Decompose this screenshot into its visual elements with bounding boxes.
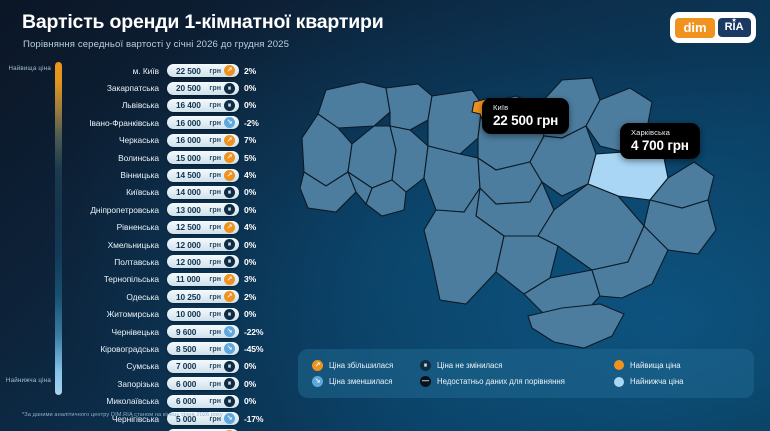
table-row[interactable]: м. Київ22 500грн↗2% xyxy=(70,62,285,79)
percent-change: 0% xyxy=(244,309,256,319)
region-name: Київська xyxy=(70,187,167,197)
trend-up-icon: ↗ xyxy=(312,360,323,371)
price-value: 8 500 xyxy=(176,344,206,354)
page-title: Вартість оренди 1-кімнатної квартири xyxy=(22,11,384,34)
percent-change: 7% xyxy=(244,135,256,145)
currency-label: грн xyxy=(209,380,221,388)
currency-label: грн xyxy=(209,206,221,214)
price-pill: 14 000грн⏸ xyxy=(167,186,239,199)
trend-up-icon: ↗ xyxy=(224,274,235,285)
legend-column-trend-2: ⏸Ціна не змінилася—Недостатньо даних для… xyxy=(420,357,565,390)
currency-label: грн xyxy=(209,345,221,353)
percent-change: -22% xyxy=(244,327,263,337)
region-name: м. Київ xyxy=(70,66,167,76)
price-value: 9 600 xyxy=(176,327,206,337)
trend-flat-icon: ⏸ xyxy=(420,360,431,371)
price-pill: 9 600грн↘ xyxy=(167,325,239,338)
currency-label: грн xyxy=(209,241,221,249)
currency-label: грн xyxy=(209,154,221,162)
legend-item: ⏸Ціна не змінилася xyxy=(420,357,565,374)
price-value: 14 500 xyxy=(176,170,206,180)
price-pill: 12 000грн⏸ xyxy=(167,255,239,268)
legend-item: ↘Ціна зменшилася xyxy=(312,374,393,391)
trend-flat-icon: ⏸ xyxy=(224,378,235,389)
currency-label: грн xyxy=(209,67,221,75)
page-subtitle: Порівняння середньої вартості у січні 20… xyxy=(23,39,289,50)
table-row[interactable]: Київська14 000грн⏸0% xyxy=(70,184,285,201)
price-value: 12 000 xyxy=(176,240,206,250)
percent-change: 5% xyxy=(244,153,256,163)
callout-kyiv: Київ 22 500 грн xyxy=(482,98,569,134)
legend-column-extremes: Найвища цінаНайнижча ціна xyxy=(614,357,684,390)
table-row[interactable]: Вінницька14 500грн↗4% xyxy=(70,166,285,183)
price-value: 22 500 xyxy=(176,66,206,76)
legend-column-trend-1: ↗Ціна збільшилася↘Ціна зменшилася xyxy=(312,357,393,390)
price-value: 12 000 xyxy=(176,257,206,267)
legend-item: Найнижча ціна xyxy=(614,374,684,391)
price-value: 6 000 xyxy=(176,396,206,406)
legend-label: Ціна не змінилася xyxy=(437,361,502,370)
region-zhytomyr xyxy=(428,90,482,154)
percent-change: 0% xyxy=(244,83,256,93)
trend-flat-icon: ⏸ xyxy=(224,309,235,320)
legend-label: Ціна зменшилася xyxy=(329,377,393,386)
price-pill: 14 500грн↗ xyxy=(167,169,239,182)
callout-kyiv-name: Київ xyxy=(493,103,558,112)
table-row[interactable]: Черкаська16 000грн↗7% xyxy=(70,132,285,149)
price-pill: 16 000грн↗ xyxy=(167,134,239,147)
region-name: Полтавська xyxy=(70,257,167,267)
price-value: 20 500 xyxy=(176,83,206,93)
table-row[interactable]: Тернопільська11 000грн↗3% xyxy=(70,271,285,288)
percent-change: 0% xyxy=(244,379,256,389)
price-value: 14 000 xyxy=(176,187,206,197)
region-name: Запорізька xyxy=(70,379,167,389)
trend-up-icon: ↗ xyxy=(224,222,235,233)
price-pill: 7 000грн⏸ xyxy=(167,360,239,373)
table-row[interactable]: Закарпатська20 500грн⏸0% xyxy=(70,79,285,96)
trend-down-icon: ↘ xyxy=(312,376,323,387)
scale-label-lowest: Найнижча ціна xyxy=(3,377,51,386)
table-row[interactable]: Рівненська12 500грн↗4% xyxy=(70,219,285,236)
trend-flat-icon: ⏸ xyxy=(224,204,235,215)
currency-label: грн xyxy=(209,275,221,283)
price-pill: 20 500грн⏸ xyxy=(167,82,239,95)
percent-change: 2% xyxy=(244,292,256,302)
currency-label: грн xyxy=(209,362,221,370)
trend-down-icon: ↘ xyxy=(224,117,235,128)
region-name: Чернівецька xyxy=(70,327,167,337)
price-value: 16 000 xyxy=(176,118,206,128)
price-value: 12 500 xyxy=(176,222,206,232)
star-icon: ★ xyxy=(731,18,736,24)
trend-down-icon: ↘ xyxy=(224,413,235,424)
region-name: Хмельницька xyxy=(70,240,167,250)
table-row[interactable]: Харківська4 700грн↗4% xyxy=(70,427,285,431)
percent-change: 3% xyxy=(244,274,256,284)
dim-ria-logo[interactable]: dim ★RIA xyxy=(670,12,756,43)
legend-item: Найвища ціна xyxy=(614,357,684,374)
trend-up-icon: ↗ xyxy=(224,135,235,146)
region-name: Одеська xyxy=(70,292,167,302)
price-pill: 8 500грн↘ xyxy=(167,342,239,355)
price-value: 16 000 xyxy=(176,135,206,145)
percent-change: 0% xyxy=(244,240,256,250)
trend-flat-icon: ⏸ xyxy=(224,361,235,372)
price-value: 10 000 xyxy=(176,309,206,319)
callout-kyiv-value: 22 500 грн xyxy=(493,113,558,128)
price-pill: 12 500грн↗ xyxy=(167,221,239,234)
lowest-price-swatch-icon xyxy=(614,377,624,387)
price-pill: 13 000грн⏸ xyxy=(167,203,239,216)
region-name: Тернопільська xyxy=(70,274,167,284)
table-row[interactable]: Хмельницька12 000грн⏸0% xyxy=(70,236,285,253)
percent-change: 0% xyxy=(244,100,256,110)
price-value: 7 000 xyxy=(176,361,206,371)
trend-flat-icon: ⏸ xyxy=(224,100,235,111)
table-row[interactable]: Полтавська12 000грн⏸0% xyxy=(70,253,285,270)
region-name: Івано-Франківська xyxy=(70,118,167,128)
percent-change: 0% xyxy=(244,187,256,197)
trend-up-icon: ↗ xyxy=(224,170,235,181)
footnote: *За даними аналітичного центру DIM.RIA с… xyxy=(22,412,223,418)
currency-label: грн xyxy=(209,136,221,144)
currency-label: грн xyxy=(209,397,221,405)
table-row[interactable]: Одеська10 250грн↗2% xyxy=(70,288,285,305)
percent-change: -17% xyxy=(244,414,263,424)
price-pill: 6 000грн⏸ xyxy=(167,395,239,408)
price-pill: 10 000грн⏸ xyxy=(167,308,239,321)
percent-change: 0% xyxy=(244,396,256,406)
trend-up-icon: ↗ xyxy=(224,65,235,76)
table-row[interactable]: Львівська16 400грн⏸0% xyxy=(70,97,285,114)
price-pill: 16 000грн↘ xyxy=(167,116,239,129)
region-name: Житомирська xyxy=(70,309,167,319)
trend-flat-icon: ⏸ xyxy=(224,187,235,198)
table-row[interactable]: Кіровоградська8 500грн↘-45% xyxy=(70,340,285,357)
region-name: Закарпатська xyxy=(70,83,167,93)
price-value: 13 000 xyxy=(176,205,206,215)
table-row[interactable]: Чернівецька9 600грн↘-22% xyxy=(70,323,285,340)
region-name: Рівненська xyxy=(70,222,167,232)
region-name: Львівська xyxy=(70,100,167,110)
callout-kharkiv-name: Харківська xyxy=(631,128,689,137)
price-pill: 16 400грн⏸ xyxy=(167,99,239,112)
percent-change: -2% xyxy=(244,118,259,128)
price-value: 6 000 xyxy=(176,379,206,389)
currency-label: грн xyxy=(209,171,221,179)
percent-change: 2% xyxy=(244,66,256,76)
table-row[interactable]: Дніпропетровська13 000грн⏸0% xyxy=(70,201,285,218)
currency-label: грн xyxy=(209,310,221,318)
percent-change: 4% xyxy=(244,170,256,180)
trend-flat-icon: ⏸ xyxy=(224,396,235,407)
percent-change: 0% xyxy=(244,257,256,267)
highest-price-swatch-icon xyxy=(614,360,624,370)
price-pill: 15 000грн↗ xyxy=(167,151,239,164)
legend-item: —Недостатньо даних для порівняння xyxy=(420,374,565,391)
logo-dim-text: dim xyxy=(675,18,714,38)
region-name: Кіровоградська xyxy=(70,344,167,354)
region-name: Миколаївська xyxy=(70,396,167,406)
percent-change: 4% xyxy=(244,222,256,232)
percent-change: 0% xyxy=(244,361,256,371)
region-name: Вінницька xyxy=(70,170,167,180)
trend-down-icon: ↘ xyxy=(224,343,235,354)
currency-label: грн xyxy=(209,293,221,301)
table-row[interactable]: Житомирська10 000грн⏸0% xyxy=(70,305,285,322)
legend-label: Найвища ціна xyxy=(630,361,681,370)
legend-label: Найнижча ціна xyxy=(630,377,684,386)
price-pill: 10 250грн↗ xyxy=(167,290,239,303)
price-value: 10 250 xyxy=(176,292,206,302)
legend-panel: ↗Ціна збільшилася↘Ціна зменшилася ⏸Ціна … xyxy=(298,349,754,398)
price-value: 15 000 xyxy=(176,153,206,163)
table-row[interactable]: Запорізька6 000грн⏸0% xyxy=(70,375,285,392)
price-pill: 22 500грн↗ xyxy=(167,64,239,77)
currency-label: грн xyxy=(209,101,221,109)
region-name: Дніпропетровська xyxy=(70,205,167,215)
trend-up-icon: ↗ xyxy=(224,152,235,163)
price-value: 16 400 xyxy=(176,100,206,110)
currency-label: грн xyxy=(209,328,221,336)
region-price-list: м. Київ22 500грн↗2%Закарпатська20 500грн… xyxy=(70,62,285,431)
price-pill: 11 000грн↗ xyxy=(167,273,239,286)
logo-ria-text: ★RIA xyxy=(718,18,751,37)
region-rivne xyxy=(386,84,432,130)
currency-label: грн xyxy=(209,84,221,92)
trend-flat-icon: ⏸ xyxy=(224,239,235,250)
callout-kharkiv-value: 4 700 грн xyxy=(631,138,689,153)
legend-label: Недостатньо даних для порівняння xyxy=(437,377,565,386)
trend-up-icon: ↗ xyxy=(224,291,235,302)
price-pill: 6 000грн⏸ xyxy=(167,377,239,390)
currency-label: грн xyxy=(209,223,221,231)
region-name: Сумська xyxy=(70,361,167,371)
table-row[interactable]: Сумська7 000грн⏸0% xyxy=(70,358,285,375)
trend-flat-icon: ⏸ xyxy=(224,83,235,94)
currency-label: грн xyxy=(209,258,221,266)
table-row[interactable]: Миколаївська6 000грн⏸0% xyxy=(70,392,285,409)
callout-kharkiv: Харківська 4 700 грн xyxy=(620,123,700,159)
price-scale-gradient-bar xyxy=(55,62,62,395)
scale-label-highest: Найвища ціна xyxy=(3,65,51,74)
currency-label: грн xyxy=(209,188,221,196)
table-row[interactable]: Івано-Франківська16 000грн↘-2% xyxy=(70,114,285,131)
table-row[interactable]: Волинська15 000грн↗5% xyxy=(70,149,285,166)
price-value: 11 000 xyxy=(176,274,206,284)
trend-none-icon: — xyxy=(420,376,431,387)
legend-item: ↗Ціна збільшилася xyxy=(312,357,393,374)
region-name: Волинська xyxy=(70,153,167,163)
percent-change: 0% xyxy=(244,205,256,215)
percent-change: -45% xyxy=(244,344,263,354)
region-khmelnytskyi xyxy=(390,126,428,192)
currency-label: грн xyxy=(209,119,221,127)
trend-flat-icon: ⏸ xyxy=(224,256,235,267)
infographic-root: Вартість оренди 1-кімнатної квартири Пор… xyxy=(0,0,770,431)
price-pill: 12 000грн⏸ xyxy=(167,238,239,251)
legend-label: Ціна збільшилася xyxy=(329,361,393,370)
trend-down-icon: ↘ xyxy=(224,326,235,337)
region-name: Черкаська xyxy=(70,135,167,145)
